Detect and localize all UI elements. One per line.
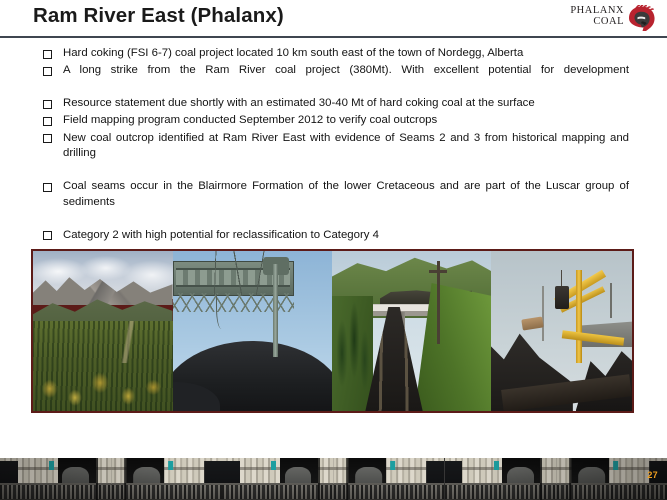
footer-crowd	[445, 485, 556, 499]
footer-crowd	[333, 485, 444, 499]
slide-header: Ram River East (Phalanx) PHALANX COAL	[0, 0, 667, 38]
footer-tile	[333, 458, 444, 500]
page-number: 27	[647, 470, 658, 480]
bullet-text: Field mapping program conducted Septembe…	[63, 114, 437, 126]
footer-teal-accent	[613, 461, 618, 470]
bullet-item: Hard coking (FSI 6-7) coal project locat…	[33, 46, 629, 63]
footer-pole	[96, 458, 98, 500]
footer-crowd	[0, 485, 111, 499]
photo4-light-pole	[542, 286, 544, 340]
footer-teal-accent	[271, 461, 276, 470]
header-divider	[0, 36, 667, 38]
hollow-square-bullet-icon	[43, 117, 52, 126]
footer-cityscape-band	[0, 458, 667, 500]
photo4-ship-mast	[610, 283, 612, 318]
forested-mountain-ridge-photo	[33, 251, 173, 411]
footer-crowd	[111, 485, 222, 499]
footer-crowd	[222, 485, 333, 499]
bullet-item: Category 2 with high potential for recla…	[33, 228, 629, 245]
footer-tile	[445, 458, 556, 500]
footer-pole	[569, 458, 571, 500]
bullet-item: Field mapping program conducted Septembe…	[33, 113, 629, 130]
bullet-item: Coal seams occur in the Blairmore Format…	[33, 179, 629, 228]
photo1-trail	[86, 321, 173, 363]
slide: Ram River East (Phalanx) PHALANX COAL Ha…	[0, 0, 667, 500]
photo2-discharge-chute	[273, 264, 278, 357]
footer-tile	[111, 458, 222, 500]
spartan-helmet-icon	[626, 5, 656, 33]
hollow-square-bullet-icon	[43, 134, 52, 143]
bullet-text: Coal seams occur in the Blairmore Format…	[63, 179, 629, 226]
bullet-item: New coal outcrop identified at Ram River…	[33, 131, 629, 180]
slide-body: Hard coking (FSI 6-7) coal project locat…	[0, 46, 667, 245]
phalanx-coal-logo: PHALANX COAL	[560, 5, 656, 35]
footer-pole	[540, 458, 542, 500]
bullet-text: Category 2 with high potential for recla…	[63, 229, 379, 241]
photo4-crane-mast	[576, 270, 582, 363]
coal-stockpile-stacker-photo	[173, 251, 332, 411]
bullet-list: Hard coking (FSI 6-7) coal project locat…	[0, 46, 667, 245]
photo3-power-pole	[437, 261, 440, 344]
bullet-text: Resource statement due shortly with an e…	[63, 97, 535, 109]
bullet-text: Hard coking (FSI 6-7) coal project locat…	[63, 47, 523, 59]
logo-wordmark: PHALANX COAL	[570, 6, 624, 27]
slide-footer: 27	[0, 458, 667, 500]
coal-terminal-crane-photo	[491, 251, 632, 411]
footer-crowd	[556, 485, 667, 499]
footer-teal-accent	[391, 461, 396, 470]
footer-pole	[125, 458, 127, 500]
footer-teal-accent	[49, 461, 54, 470]
photo3-conifers	[335, 286, 370, 398]
photo-strip	[31, 249, 634, 413]
footer-tile	[0, 458, 111, 500]
bullet-text: New coal outcrop identified at Ram River…	[63, 131, 629, 178]
logo-line-2: COAL	[570, 17, 624, 28]
hollow-square-bullet-icon	[43, 231, 52, 240]
footer-pole	[318, 458, 320, 500]
hollow-square-bullet-icon	[43, 183, 52, 192]
hollow-square-bullet-icon	[43, 50, 52, 59]
footer-teal-accent	[168, 461, 173, 470]
footer-teal-accent	[494, 461, 499, 470]
footer-tile	[222, 458, 333, 500]
hollow-square-bullet-icon	[43, 100, 52, 109]
photo4-grab-bucket	[555, 286, 569, 308]
bullet-text: A long strike from the Ram River coal pr…	[63, 63, 629, 94]
page-title: Ram River East (Phalanx)	[33, 4, 284, 28]
bullet-item: Resource statement due shortly with an e…	[33, 96, 629, 113]
conveyor-under-bridge-photo	[332, 251, 491, 411]
bullet-item: A long strike from the Ram River coal pr…	[33, 63, 629, 96]
hollow-square-bullet-icon	[43, 67, 52, 76]
